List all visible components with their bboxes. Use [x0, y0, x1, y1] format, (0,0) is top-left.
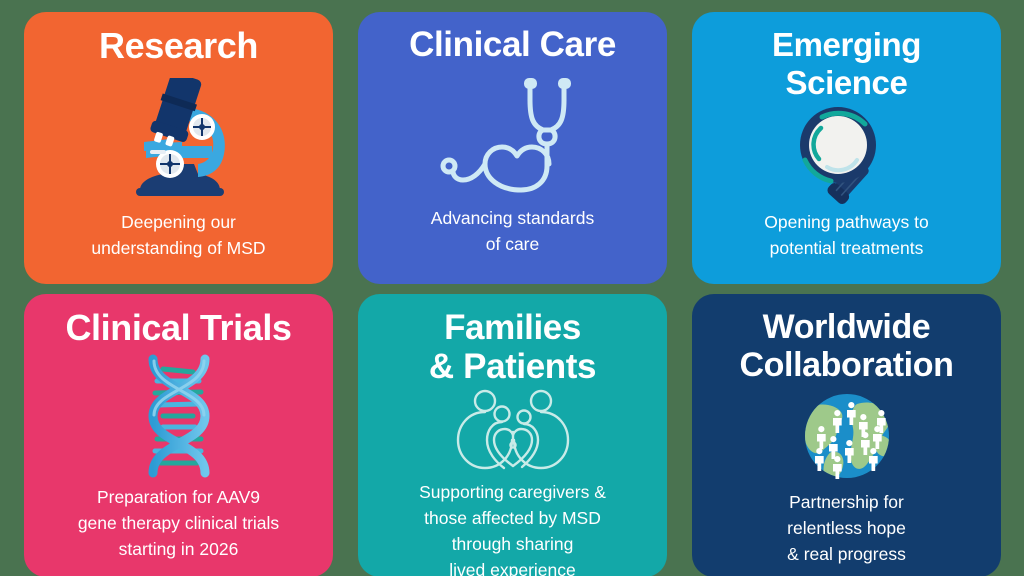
card-clinical-trials[interactable]: Clinical Trials	[24, 294, 333, 576]
card-description: Deepening our understanding of MSD	[91, 210, 265, 278]
magnifying-glass-icon	[702, 101, 991, 210]
microscope-icon	[34, 65, 323, 210]
globe-people-icon	[702, 392, 991, 480]
card-title: Families & Patients	[429, 302, 596, 386]
dna-helix-icon	[34, 347, 323, 485]
card-title: Research	[99, 20, 258, 65]
card-research[interactable]: Research	[24, 12, 333, 284]
card-families-patients[interactable]: Families & Patients	[358, 294, 667, 576]
card-clinical-care[interactable]: Clinical Care	[358, 12, 667, 284]
card-description: Advancing standards of care	[431, 206, 594, 278]
card-description: Preparation for AAV9 gene therapy clinic…	[78, 485, 279, 571]
card-title: Emerging Science	[772, 20, 921, 101]
card-title: Clinical Care	[409, 20, 616, 64]
card-description: Opening pathways to potential treatments	[764, 210, 928, 278]
card-grid: Research	[0, 0, 1024, 576]
family-group-icon	[368, 388, 657, 474]
card-worldwide-collaboration[interactable]: Worldwide Collaboration	[692, 294, 1001, 576]
stethoscope-heart-icon	[368, 64, 657, 206]
card-description: Partnership for relentless hope & real p…	[787, 490, 906, 576]
card-description: Supporting caregivers & those affected b…	[419, 480, 606, 576]
card-emerging-science[interactable]: Emerging Science Opening pathways to pot	[692, 12, 1001, 284]
card-title: Worldwide Collaboration	[740, 302, 954, 384]
card-title: Clinical Trials	[65, 302, 291, 347]
